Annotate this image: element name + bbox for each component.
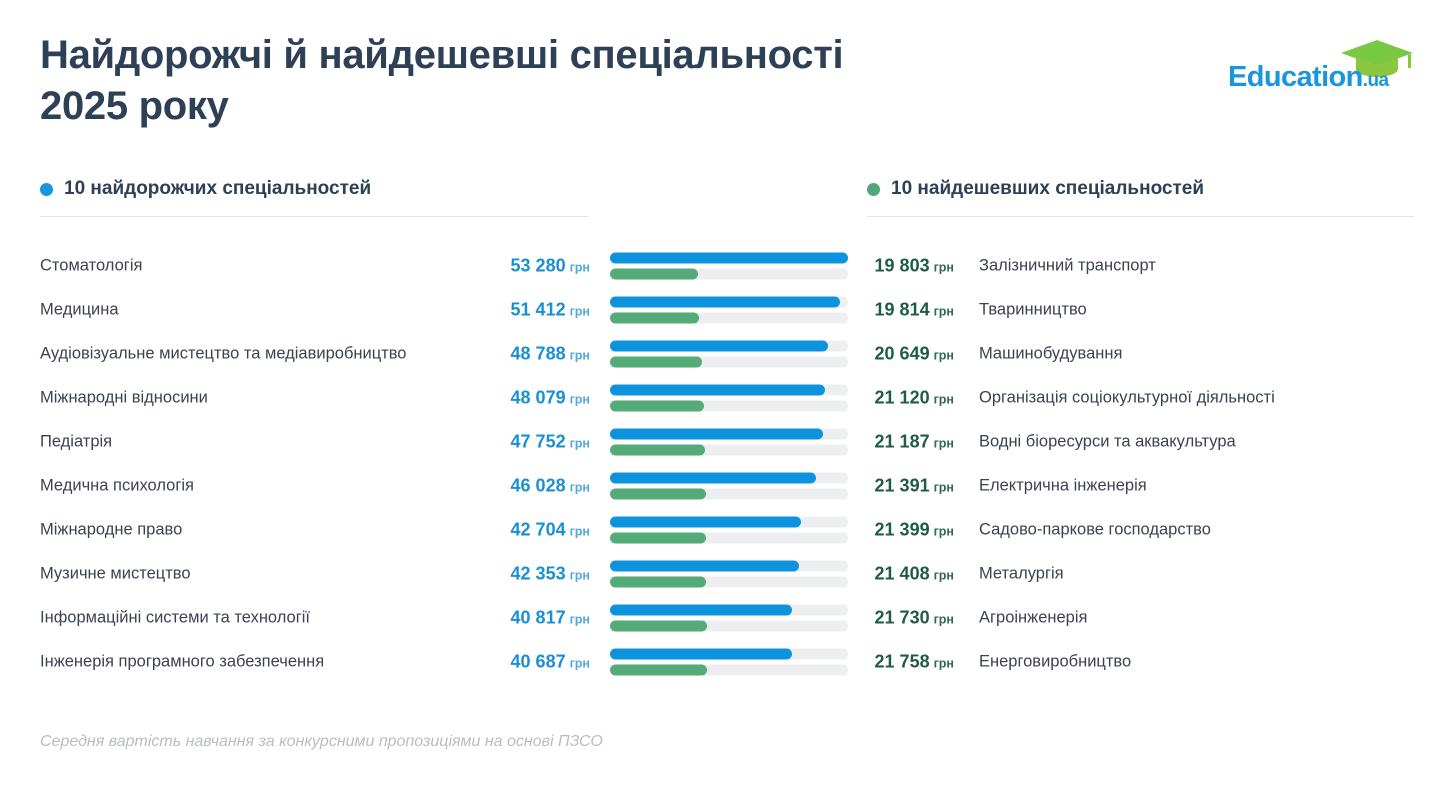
cheapest-value-number: 21 758 [875,652,930,672]
cheapest-specialty-label: Залізничний транспорт [979,257,1156,276]
expensive-specialty-label: Педіатрія [40,433,112,452]
expensive-value-number: 46 028 [511,476,566,496]
cheapest-value-currency: грн [934,657,954,671]
expensive-value: 42 704грн [340,520,590,541]
cheapest-specialty-label: Машинобудування [979,345,1122,364]
expensive-value-number: 40 817 [511,608,566,628]
cheapest-value: 21 758грн [862,652,954,673]
cheapest-value-currency: грн [934,569,954,583]
bar-track-expensive [610,297,848,308]
bar-pair [610,253,848,280]
bar-pair [610,649,848,676]
bar-pair [610,561,848,588]
page-header: Найдорожчі й найдешевші спеціальності 20… [40,30,1414,140]
divider-right [867,216,1414,217]
expensive-value-currency: грн [570,657,590,671]
cheapest-value: 21 730грн [862,608,954,629]
expensive-value: 40 817грн [340,608,590,629]
legend-expensive: 10 найдорожчих спеціальностей [40,178,371,200]
expensive-value-number: 53 280 [511,256,566,276]
bar-track-expensive [610,429,848,440]
bar-pair [610,473,848,500]
expensive-specialty-label: Інформаційні системи та технології [40,609,310,628]
bar-track-cheapest [610,533,848,544]
cheapest-value: 19 803грн [862,256,954,277]
expensive-value-number: 40 687 [511,652,566,672]
chart-row: Аудіовізуальне мистецтво та медіавиробни… [40,332,1414,376]
bar-track-cheapest [610,445,848,456]
chart-columns: 10 найдорожчих спеціальностей 10 найдеше… [40,178,1414,684]
bar-track-cheapest [610,269,848,280]
legend-expensive-label: 10 найдорожчих спеціальностей [64,178,371,200]
chart-row: Інженерія програмного забезпечення40 687… [40,640,1414,684]
bar-fill-expensive [610,605,792,616]
legend-cheapest-label: 10 найдешевших спеціальностей [891,178,1204,200]
cheapest-value-number: 19 814 [875,300,930,320]
chart-row: Педіатрія47 752грн21 187грнВодні біоресу… [40,420,1414,464]
bar-track-expensive [610,341,848,352]
bar-fill-cheapest [610,533,706,544]
logo-name: Education [1228,61,1363,93]
bar-fill-expensive [610,297,840,308]
bar-fill-expensive [610,253,848,264]
expensive-value: 46 028грн [340,476,590,497]
cheapest-specialty-label: Водні біоресурси та аквакультура [979,433,1236,452]
bar-fill-cheapest [610,357,702,368]
bar-track-expensive [610,473,848,484]
logo-text: Education.ua [1228,61,1388,94]
cheapest-value-number: 21 730 [875,608,930,628]
expensive-value-currency: грн [570,261,590,275]
bar-track-cheapest [610,357,848,368]
expensive-value-number: 42 353 [511,564,566,584]
cheapest-specialty-label: Металургія [979,565,1064,584]
bar-track-cheapest [610,489,848,500]
expensive-value-currency: грн [570,613,590,627]
expensive-value: 48 788грн [340,344,590,365]
bar-track-expensive [610,561,848,572]
cheapest-value-currency: грн [934,261,954,275]
bar-fill-expensive [610,341,828,352]
expensive-specialty-label: Медична психологія [40,477,194,496]
expensive-value-number: 51 412 [511,300,566,320]
bar-track-expensive [610,517,848,528]
expensive-value-currency: грн [570,437,590,451]
chart-rows: Стоматологія53 280грн19 803грнЗалізнични… [40,244,1414,684]
bar-fill-expensive [610,385,825,396]
bar-fill-expensive [610,517,801,528]
bar-pair [610,429,848,456]
chart-row: Інформаційні системи та технології40 817… [40,596,1414,640]
expensive-specialty-label: Музичне мистецтво [40,565,191,584]
expensive-specialty-label: Міжнародне право [40,521,182,540]
chart-row: Медична психологія46 028грн21 391грнЕлек… [40,464,1414,508]
cheapest-value-currency: грн [934,393,954,407]
bar-track-cheapest [610,577,848,588]
cheapest-value-number: 21 399 [875,520,930,540]
chart-row: Стоматологія53 280грн19 803грнЗалізнични… [40,244,1414,288]
cheapest-specialty-label: Садово-паркове господарство [979,521,1211,540]
cheapest-specialty-label: Енерговиробництво [979,653,1131,672]
expensive-value: 53 280грн [340,256,590,277]
bar-fill-cheapest [610,401,704,412]
expensive-value-currency: грн [570,525,590,539]
bar-pair [610,385,848,412]
bar-track-expensive [610,253,848,264]
cheapest-value-currency: грн [934,349,954,363]
page-title-line-1: Найдорожчі й найдешевші спеціальності [40,30,1020,81]
logo-domain: .ua [1363,70,1389,91]
cheapest-value: 21 399грн [862,520,954,541]
cheapest-value-number: 21 187 [875,432,930,452]
expensive-value-number: 42 704 [511,520,566,540]
legend-dot-green-icon [867,183,880,196]
section-headers: 10 найдорожчих спеціальностей 10 найдеше… [40,178,1414,222]
bar-track-cheapest [610,401,848,412]
legend-cheapest: 10 найдешевших спеціальностей [867,178,1204,200]
cheapest-value: 20 649грн [862,344,954,365]
bar-fill-cheapest [610,665,707,676]
bar-track-cheapest [610,665,848,676]
bar-track-expensive [610,649,848,660]
bar-track-cheapest [610,621,848,632]
cheapest-value-currency: грн [934,613,954,627]
cheapest-value: 19 814грн [862,300,954,321]
chart-row: Міжнародні відносини48 079грн21 120грнОр… [40,376,1414,420]
chart-row: Музичне мистецтво42 353грн21 408грнМетал… [40,552,1414,596]
cheapest-value: 21 120грн [862,388,954,409]
page-title: Найдорожчі й найдешевші спеціальності 20… [40,30,1020,132]
cheapest-specialty-label: Електрична інженерія [979,477,1147,496]
cheapest-value: 21 187грн [862,432,954,453]
bar-track-expensive [610,605,848,616]
expensive-value-currency: грн [570,349,590,363]
infographic-page: Найдорожчі й найдешевші спеціальності 20… [0,0,1454,799]
expensive-specialty-label: Інженерія програмного забезпечення [40,653,324,672]
bar-pair [610,297,848,324]
bar-fill-expensive [610,473,816,484]
bar-fill-cheapest [610,621,707,632]
expensive-value: 51 412грн [340,300,590,321]
bar-pair [610,517,848,544]
cheapest-value-currency: грн [934,525,954,539]
divider-left [40,216,588,217]
expensive-value-currency: грн [570,481,590,495]
cheapest-specialty-label: Організація соціокультурної діяльності [979,389,1275,408]
bar-fill-expensive [610,561,799,572]
expensive-value: 40 687грн [340,652,590,673]
cheapest-value-number: 19 803 [875,256,930,276]
bar-fill-cheapest [610,313,699,324]
legend-dot-blue-icon [40,183,53,196]
cheapest-value-number: 20 649 [875,344,930,364]
bar-fill-cheapest [610,577,706,588]
expensive-value-currency: грн [570,305,590,319]
chart-row: Міжнародне право42 704грн21 399грнСадово… [40,508,1414,552]
expensive-value: 47 752грн [340,432,590,453]
cheapest-value-number: 21 120 [875,388,930,408]
page-title-line-2: 2025 року [40,81,1020,132]
expensive-value-number: 47 752 [511,432,566,452]
bar-fill-cheapest [610,445,705,456]
education-ua-logo[interactable]: Education.ua [1228,38,1414,96]
expensive-specialty-label: Стоматологія [40,257,142,276]
cheapest-specialty-label: Тваринництво [979,301,1087,320]
bar-track-expensive [610,385,848,396]
chart-row: Медицина51 412грн19 814грнТваринництво [40,288,1414,332]
expensive-value-currency: грн [570,393,590,407]
expensive-specialty-label: Медицина [40,301,119,320]
cheapest-value-number: 21 391 [875,476,930,496]
footer-note: Середня вартість навчання за конкурсними… [40,733,603,751]
cheapest-value: 21 408грн [862,564,954,585]
bar-fill-expensive [610,649,792,660]
cheapest-value-currency: грн [934,305,954,319]
cheapest-value-number: 21 408 [875,564,930,584]
expensive-value: 42 353грн [340,564,590,585]
expensive-value-number: 48 788 [511,344,566,364]
bar-fill-cheapest [610,489,706,500]
bar-pair [610,605,848,632]
cheapest-value-currency: грн [934,437,954,451]
expensive-specialty-label: Міжнародні відносини [40,389,208,408]
bar-fill-expensive [610,429,823,440]
bar-fill-cheapest [610,269,698,280]
expensive-value-currency: грн [570,569,590,583]
bar-track-cheapest [610,313,848,324]
cheapest-value: 21 391грн [862,476,954,497]
expensive-value-number: 48 079 [511,388,566,408]
expensive-value: 48 079грн [340,388,590,409]
bar-pair [610,341,848,368]
cheapest-value-currency: грн [934,481,954,495]
cheapest-specialty-label: Агроінженерія [979,609,1087,628]
